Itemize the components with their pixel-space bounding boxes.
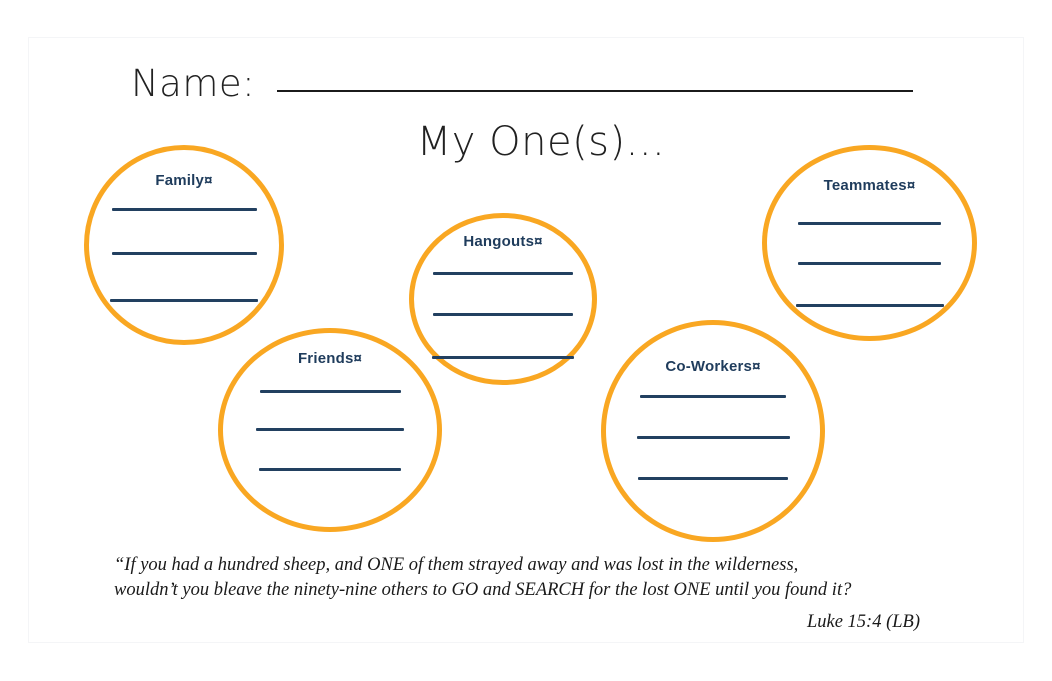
write-line[interactable]: [640, 395, 786, 398]
bubble-label-coworkers: Co-Workers¤: [606, 358, 820, 375]
write-line[interactable]: [798, 262, 941, 265]
write-lines-hangouts: [414, 272, 592, 359]
write-lines-friends: [223, 390, 437, 471]
write-line[interactable]: [433, 313, 573, 316]
name-input-blank[interactable]: [277, 90, 913, 92]
bubble-label-friends: Friends¤: [223, 350, 437, 367]
quote-citation: Luke 15:4 (LB): [114, 610, 944, 635]
write-line[interactable]: [432, 356, 574, 359]
bubble-coworkers[interactable]: Co-Workers¤: [601, 320, 825, 542]
bubble-label-family: Family¤: [89, 172, 279, 189]
write-lines-family: [89, 208, 279, 302]
write-lines-teammates: [767, 222, 972, 307]
name-label: Name:: [131, 62, 255, 105]
write-line[interactable]: [796, 304, 944, 307]
write-line[interactable]: [112, 208, 257, 211]
write-line[interactable]: [260, 390, 401, 393]
write-line[interactable]: [638, 477, 788, 480]
write-lines-coworkers: [606, 395, 820, 480]
write-line[interactable]: [112, 252, 257, 255]
quote-line-2: wouldn’t you bleave the ninety-nine othe…: [114, 578, 944, 603]
bubble-teammates[interactable]: Teammates¤: [762, 145, 977, 341]
worksheet-page: Name: My One(s)... Family¤ Friends¤ Hang…: [0, 0, 1052, 681]
write-line[interactable]: [110, 299, 258, 302]
bubble-hangouts[interactable]: Hangouts¤: [409, 213, 597, 385]
write-line[interactable]: [637, 436, 790, 439]
scripture-quote: “If you had a hundred sheep, and ONE of …: [114, 553, 944, 635]
name-row: Name:: [131, 62, 913, 105]
bubble-label-hangouts: Hangouts¤: [414, 233, 592, 250]
quote-line-1: “If you had a hundred sheep, and ONE of …: [114, 553, 944, 578]
write-line[interactable]: [259, 468, 401, 471]
bubble-friends[interactable]: Friends¤: [218, 328, 442, 532]
write-line[interactable]: [256, 428, 404, 431]
bubble-label-teammates: Teammates¤: [767, 177, 972, 194]
bubble-family[interactable]: Family¤: [84, 145, 284, 345]
write-line[interactable]: [433, 272, 573, 275]
write-line[interactable]: [798, 222, 941, 225]
